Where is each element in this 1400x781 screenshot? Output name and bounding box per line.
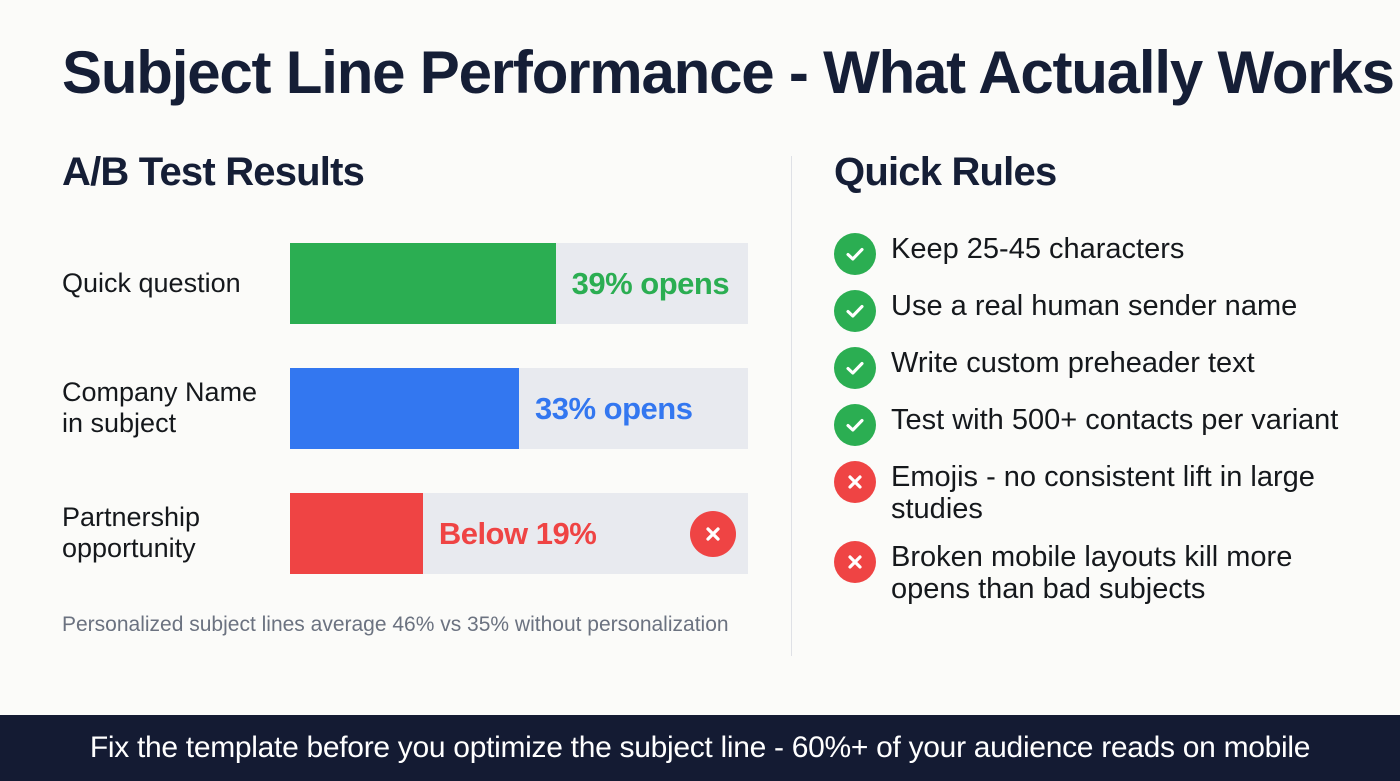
chart-footnote: Personalized subject lines average 46% v… bbox=[62, 613, 729, 637]
bar-value-label: 39% opens bbox=[572, 266, 729, 302]
bar-fill bbox=[290, 493, 423, 574]
rule-text: Emojis - no consistent lift in large stu… bbox=[891, 460, 1374, 526]
bar-track: Below 19% bbox=[290, 493, 748, 574]
circle-check-icon bbox=[834, 290, 876, 332]
quick-rules-heading: Quick Rules bbox=[834, 150, 1374, 195]
quick-rules-section: Quick Rules bbox=[834, 150, 1374, 195]
rule-text: Keep 25-45 characters bbox=[891, 232, 1184, 266]
column-divider bbox=[791, 156, 792, 656]
rule-text: Use a real human sender name bbox=[891, 289, 1297, 323]
bar-category-label-line2: in subject bbox=[62, 409, 176, 439]
bar-category-label: Quick question bbox=[62, 268, 282, 300]
rule-item: Use a real human sender name bbox=[834, 289, 1374, 332]
page-title: Subject Line Performance - What Actually… bbox=[62, 38, 1394, 107]
rule-item: Broken mobile layouts kill more opens th… bbox=[834, 540, 1374, 606]
bar-category-label-line2: opportunity bbox=[62, 534, 196, 564]
bar-category-label: Partnershipopportunity bbox=[62, 502, 282, 566]
circle-x-icon bbox=[690, 511, 736, 557]
circle-x-icon bbox=[834, 461, 876, 503]
bar-category-label: Company Namein subject bbox=[62, 377, 282, 441]
rule-item: Write custom preheader text bbox=[834, 346, 1374, 389]
rule-item: Keep 25-45 characters bbox=[834, 232, 1374, 275]
rule-text: Test with 500+ contacts per variant bbox=[891, 403, 1338, 437]
rule-text: Write custom preheader text bbox=[891, 346, 1255, 380]
bar-category-label-line1: Partnership bbox=[62, 502, 200, 532]
bar-fill bbox=[290, 243, 556, 324]
bar-value-label: Below 19% bbox=[439, 516, 596, 552]
circle-check-icon bbox=[834, 347, 876, 389]
ab-test-heading: A/B Test Results bbox=[62, 150, 762, 195]
bar-track: 33% opens bbox=[290, 368, 748, 449]
quick-rules-list: Keep 25-45 charactersUse a real human se… bbox=[834, 232, 1374, 620]
bar-row: Quick question39% opens bbox=[62, 243, 762, 324]
bar-row: PartnershipopportunityBelow 19% bbox=[62, 493, 762, 574]
bar-category-label-line1: Quick question bbox=[62, 268, 241, 298]
bar-track: 39% opens bbox=[290, 243, 748, 324]
banner-text: Fix the template before you optimize the… bbox=[90, 731, 1310, 765]
bar-chart: Quick question39% opensCompany Namein su… bbox=[62, 243, 762, 618]
bottom-banner: Fix the template before you optimize the… bbox=[0, 715, 1400, 781]
circle-x-icon bbox=[834, 541, 876, 583]
rule-item: Test with 500+ contacts per variant bbox=[834, 403, 1374, 446]
circle-check-icon bbox=[834, 404, 876, 446]
rule-text: Broken mobile layouts kill more opens th… bbox=[891, 540, 1374, 606]
bar-row: Company Namein subject33% opens bbox=[62, 368, 762, 449]
bar-fill bbox=[290, 368, 519, 449]
rule-item: Emojis - no consistent lift in large stu… bbox=[834, 460, 1374, 526]
bar-category-label-line1: Company Name bbox=[62, 377, 257, 407]
bar-value-label: 33% opens bbox=[535, 391, 692, 427]
circle-check-icon bbox=[834, 233, 876, 275]
ab-test-section: A/B Test Results bbox=[62, 150, 762, 195]
